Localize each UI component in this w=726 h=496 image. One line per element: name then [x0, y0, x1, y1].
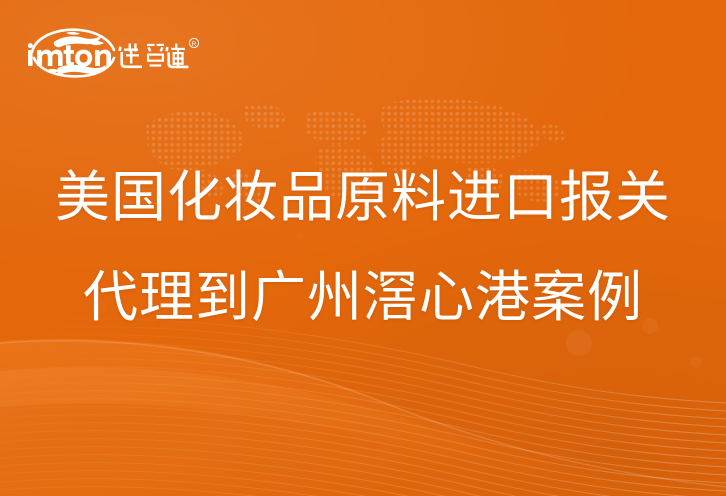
svg-text:R: R — [192, 41, 197, 48]
brand-logo[interactable]: R — [14, 26, 204, 80]
bokeh-dot — [296, 232, 304, 240]
diagonal-line-texture — [0, 300, 726, 496]
globe-swoosh-icon: R — [14, 26, 204, 80]
trademark-icon: R — [189, 38, 198, 48]
promo-banner: R 美国化妆品原料进口报关 代理到广州滘心港案例 — [0, 0, 726, 496]
headline-line-2: 代理到广州滘心港案例 — [0, 270, 726, 325]
headline-line-1: 美国化妆品原料进口报关 — [0, 170, 726, 225]
